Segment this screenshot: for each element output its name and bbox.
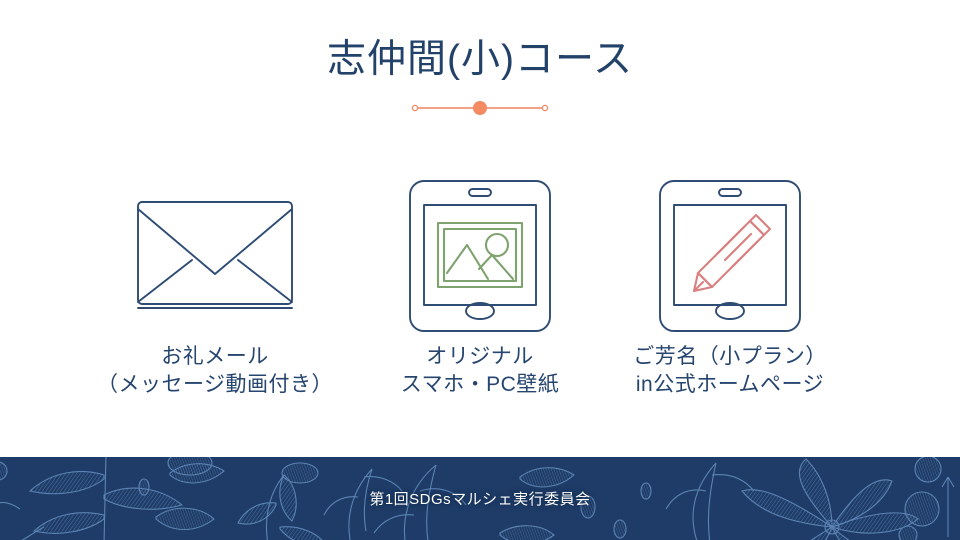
slide-canvas: 志仲間(小)コース bbox=[0, 0, 960, 540]
page-title: 志仲間(小)コース bbox=[0, 38, 960, 83]
benefit-icon-wrap bbox=[580, 168, 880, 343]
divider-end-dot-right bbox=[542, 105, 547, 110]
title-block: 志仲間(小)コース bbox=[0, 38, 960, 83]
tablet-screen bbox=[424, 205, 536, 305]
benefit-caption-line-2: in公式ホームページ bbox=[580, 371, 880, 399]
title-divider-graphic bbox=[410, 100, 550, 116]
footer-band: 第1回SDGsマルシェ実行委員会 bbox=[0, 457, 960, 540]
benefit-caption: ご芳名（小プラン） in公式ホームページ bbox=[580, 343, 880, 398]
benefit-caption-line-1: ご芳名（小プラン） bbox=[580, 343, 880, 371]
benefit-caption-line-2: （メッセージ動画付き） bbox=[65, 371, 365, 399]
pencil-glyph bbox=[694, 215, 770, 291]
tablet-speaker bbox=[719, 189, 741, 196]
photo-glyph bbox=[438, 223, 522, 287]
benefit-icon-wrap bbox=[65, 168, 365, 343]
divider-center-dot bbox=[473, 101, 487, 115]
tablet-body bbox=[410, 181, 550, 331]
tablet-pencil-icon bbox=[654, 175, 806, 337]
benefit-caption: お礼メール （メッセージ動画付き） bbox=[65, 343, 365, 398]
divider-end-dot-left bbox=[412, 105, 417, 110]
benefits-row: お礼メール （メッセージ動画付き） bbox=[0, 168, 960, 418]
tablet-photo-icon bbox=[404, 175, 556, 337]
benefit-caption-line-1: お礼メール bbox=[65, 343, 365, 371]
footer-caption-wrap: 第1回SDGsマルシェ実行委員会 bbox=[0, 457, 960, 540]
footer-caption: 第1回SDGsマルシェ実行委員会 bbox=[369, 488, 590, 509]
benefit-item-mail: お礼メール （メッセージ動画付き） bbox=[65, 168, 365, 398]
benefit-item-name-listing: ご芳名（小プラン） in公式ホームページ bbox=[580, 168, 880, 398]
title-divider bbox=[0, 100, 960, 116]
envelope-icon bbox=[130, 196, 300, 316]
tablet-speaker bbox=[469, 189, 491, 196]
